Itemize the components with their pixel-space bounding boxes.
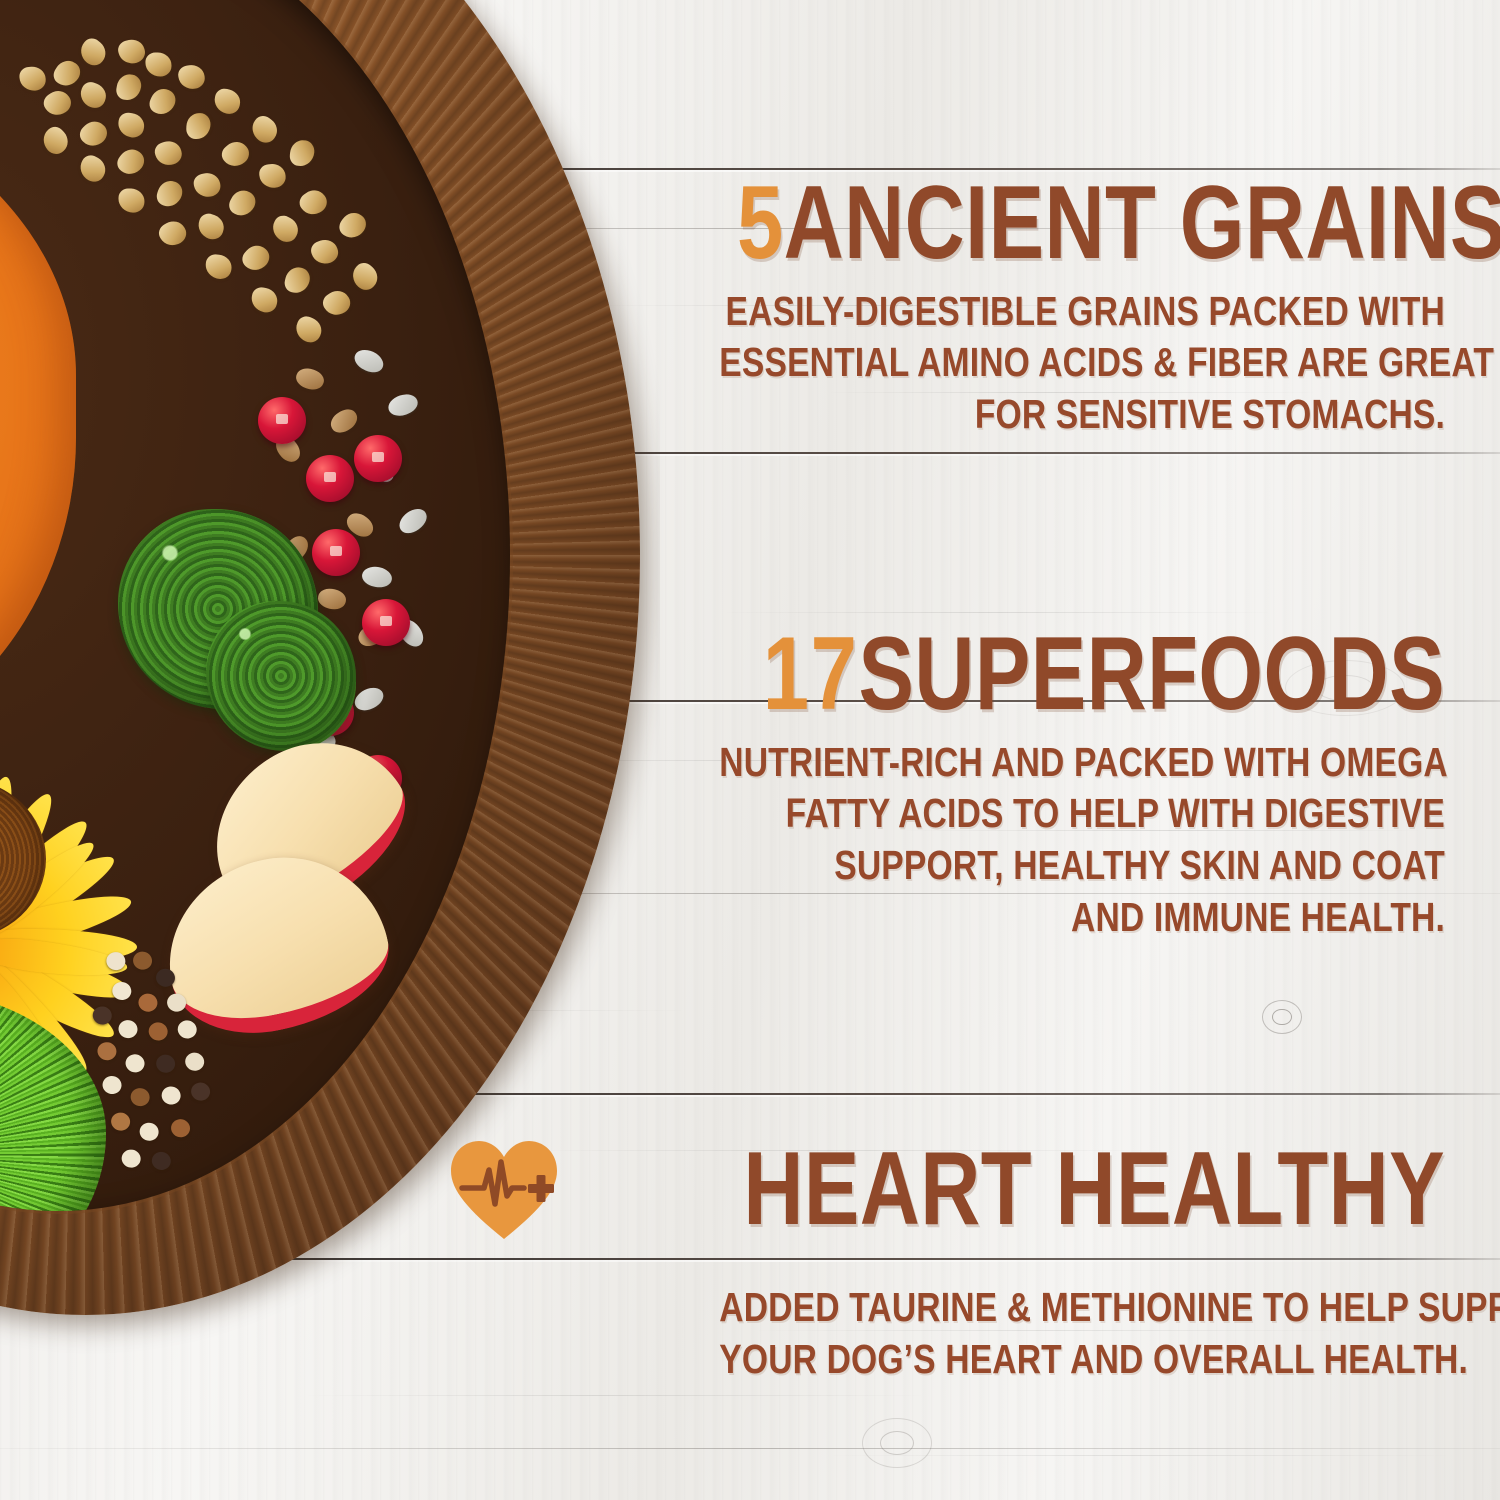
- superfoods-description: NUTRIENT-RICH AND PACKED WITH OMEGA FATT…: [719, 737, 1445, 944]
- cranberry: [362, 599, 410, 646]
- cranberry: [354, 435, 402, 482]
- description-line: AND IMMUNE HEALTH.: [719, 892, 1445, 944]
- infographic-stage: 5ANCIENT GRAINS EASILY-DIGESTIBLE GRAINS…: [0, 0, 1500, 1500]
- pumpkin-seed: [395, 504, 431, 538]
- benefit-section-ancient-grains: 5ANCIENT GRAINS EASILY-DIGESTIBLE GRAINS…: [560, 176, 1445, 441]
- description-line: NUTRIENT-RICH AND PACKED WITH OMEGA: [719, 737, 1445, 789]
- pumpkin-seed: [386, 391, 421, 419]
- description-line: YOUR DOG’S HEART AND OVERALL HEALTH.: [719, 1334, 1445, 1386]
- superfoods-title: SUPERFOODS: [859, 616, 1445, 732]
- benefit-section-heart-healthy: HEART HEALTHY ADDED TAURINE & METHIONINE…: [560, 1138, 1445, 1385]
- benefits-text-column: 5ANCIENT GRAINS EASILY-DIGESTIBLE GRAINS…: [560, 0, 1500, 1500]
- description-line: ESSENTIAL AMINO ACIDS & FIBER ARE GREAT: [719, 337, 1445, 389]
- description-line: ADDED TAURINE & METHIONINE TO HELP SUPPO…: [719, 1282, 1445, 1334]
- description-line: FOR SENSITIVE STOMACHS.: [719, 389, 1445, 441]
- wooden-bowl: [0, 0, 640, 1315]
- superfoods-count: 17: [763, 616, 859, 732]
- benefit-section-superfoods: 17SUPERFOODS NUTRIENT-RICH AND PACKED WI…: [560, 627, 1445, 943]
- cranberry: [306, 455, 354, 502]
- ancient-grains-headline: 5ANCIENT GRAINS: [737, 176, 1445, 272]
- cranberry: [258, 397, 306, 444]
- heart-healthy-headline-row: HEART HEALTHY: [560, 1138, 1445, 1242]
- pumpkin-seed: [360, 565, 393, 590]
- ancient-grains-title: ANCIENT GRAINS: [784, 165, 1500, 281]
- cranberry: [312, 529, 360, 576]
- pumpkin-seed: [351, 683, 387, 714]
- description-line: FATTY ACIDS TO HELP WITH DIGESTIVE: [719, 788, 1445, 840]
- heart-pulse-icon: [448, 1138, 560, 1242]
- flax-seed: [316, 586, 348, 612]
- description-line: SUPPORT, HEALTHY SKIN AND COAT: [719, 840, 1445, 892]
- superfoods-headline: 17SUPERFOODS: [737, 627, 1445, 723]
- heart-healthy-title: HEART HEALTHY: [743, 1142, 1445, 1238]
- ancient-grains-description: EASILY-DIGESTIBLE GRAINS PACKED WITH ESS…: [719, 286, 1445, 441]
- heart-healthy-description: ADDED TAURINE & METHIONINE TO HELP SUPPO…: [719, 1282, 1445, 1385]
- flax-seed: [327, 405, 361, 436]
- description-line: EASILY-DIGESTIBLE GRAINS PACKED WITH: [719, 286, 1445, 338]
- ancient-grains-count: 5: [737, 165, 784, 281]
- broccoli-floret: [206, 601, 356, 751]
